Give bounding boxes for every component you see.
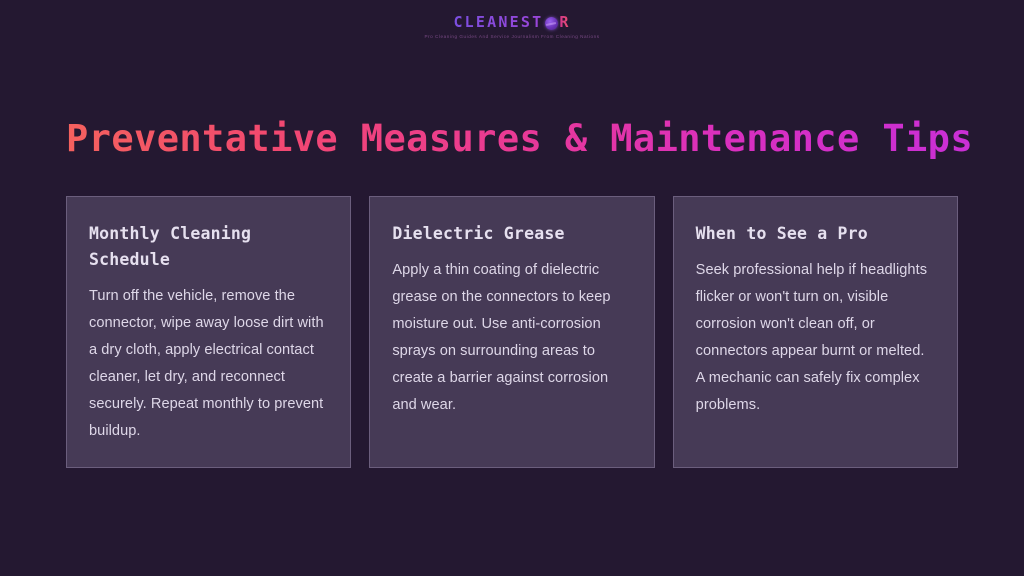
info-card-dielectric-grease: Dielectric Grease Apply a thin coating o…: [369, 196, 654, 468]
card-title: When to See a Pro: [696, 221, 935, 247]
brand-tagline: Pro Cleaning Guides And Service Journali…: [424, 33, 599, 40]
card-body: Apply a thin coating of dielectric greas…: [392, 257, 631, 419]
brand-wordmark-prefix: CLEANEST: [453, 14, 543, 31]
brand-wordmark: CLEANEST R: [453, 14, 570, 31]
info-card-monthly-cleaning-schedule: Monthly Cleaning Schedule Turn off the v…: [66, 196, 351, 468]
brand-logo: CLEANEST R Pro Cleaning Guides And Servi…: [0, 14, 1024, 40]
card-body: Turn off the vehicle, remove the connect…: [89, 283, 328, 445]
card-body: Seek professional help if headlights fli…: [696, 257, 935, 419]
card-title: Dielectric Grease: [392, 221, 631, 247]
brand-wordmark-suffix: R: [559, 14, 570, 31]
planet-orb-icon: [545, 17, 558, 30]
card-list: Monthly Cleaning Schedule Turn off the v…: [66, 196, 958, 468]
page-title: Preventative Measures & Maintenance Tips: [66, 114, 973, 164]
card-title: Monthly Cleaning Schedule: [89, 221, 328, 273]
info-card-when-to-see-a-pro: When to See a Pro Seek professional help…: [673, 196, 958, 468]
